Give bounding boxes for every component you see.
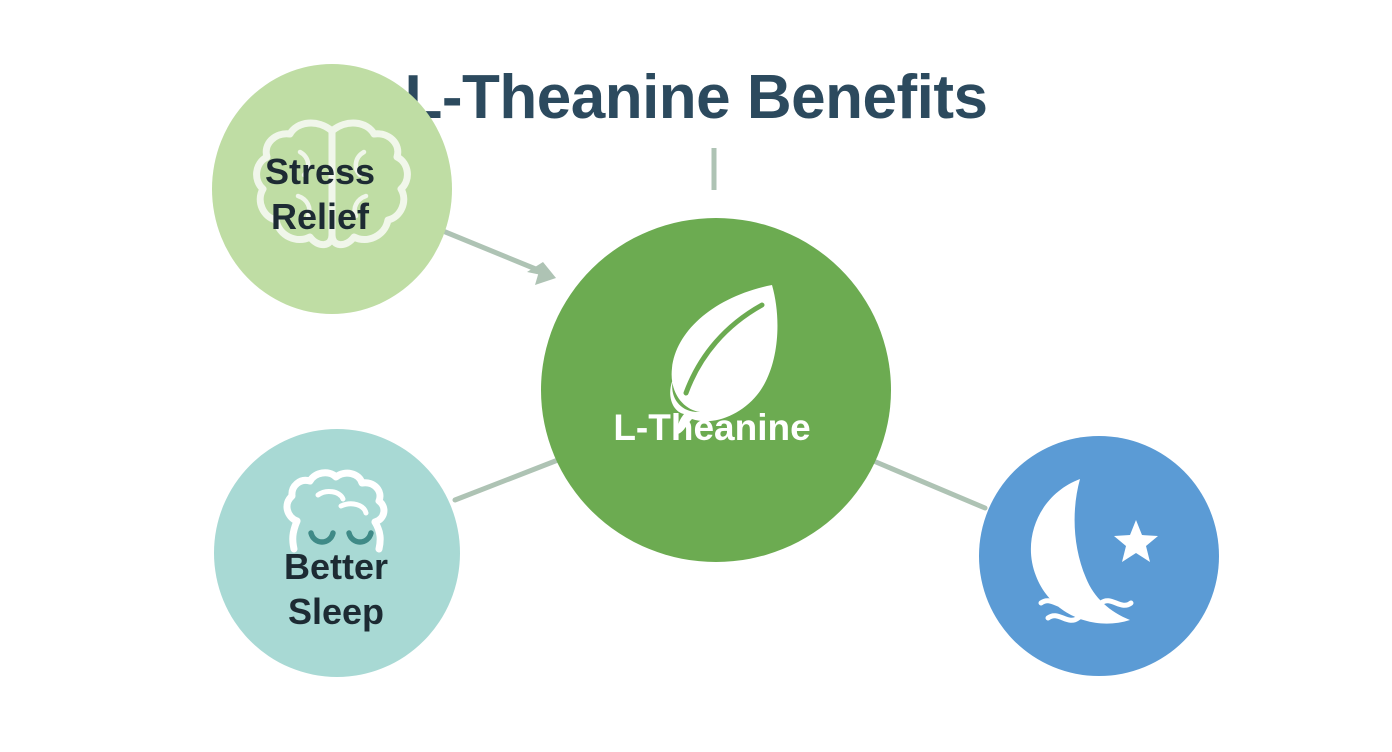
node-better-sleep[interactable]: Better Sleep [214,429,460,677]
node-better-sleep-label-line-1: Better [284,546,388,587]
page-title: L-Theanine Benefits [404,63,987,132]
connector-sleep-to-center [455,458,563,500]
connector-center-to-moon [876,462,985,508]
node-night-rest[interactable] [979,436,1219,676]
node-stress-relief-label-line-2: Relief [271,196,370,237]
node-l-theanine-label: L-Theanine [613,407,810,448]
node-l-theanine[interactable]: L-Theanine [541,218,891,562]
benefits-diagram: L-Theanine Benefits Stress Relief [0,0,1392,752]
node-stress-relief-label-line-1: Stress [265,151,375,192]
node-better-sleep-label-line-2: Sleep [288,591,384,632]
node-stress-relief[interactable]: Stress Relief [212,64,452,314]
infographic-canvas: L-Theanine Benefits Stress Relief [0,0,1392,752]
node-night-rest-circle[interactable] [979,436,1219,676]
